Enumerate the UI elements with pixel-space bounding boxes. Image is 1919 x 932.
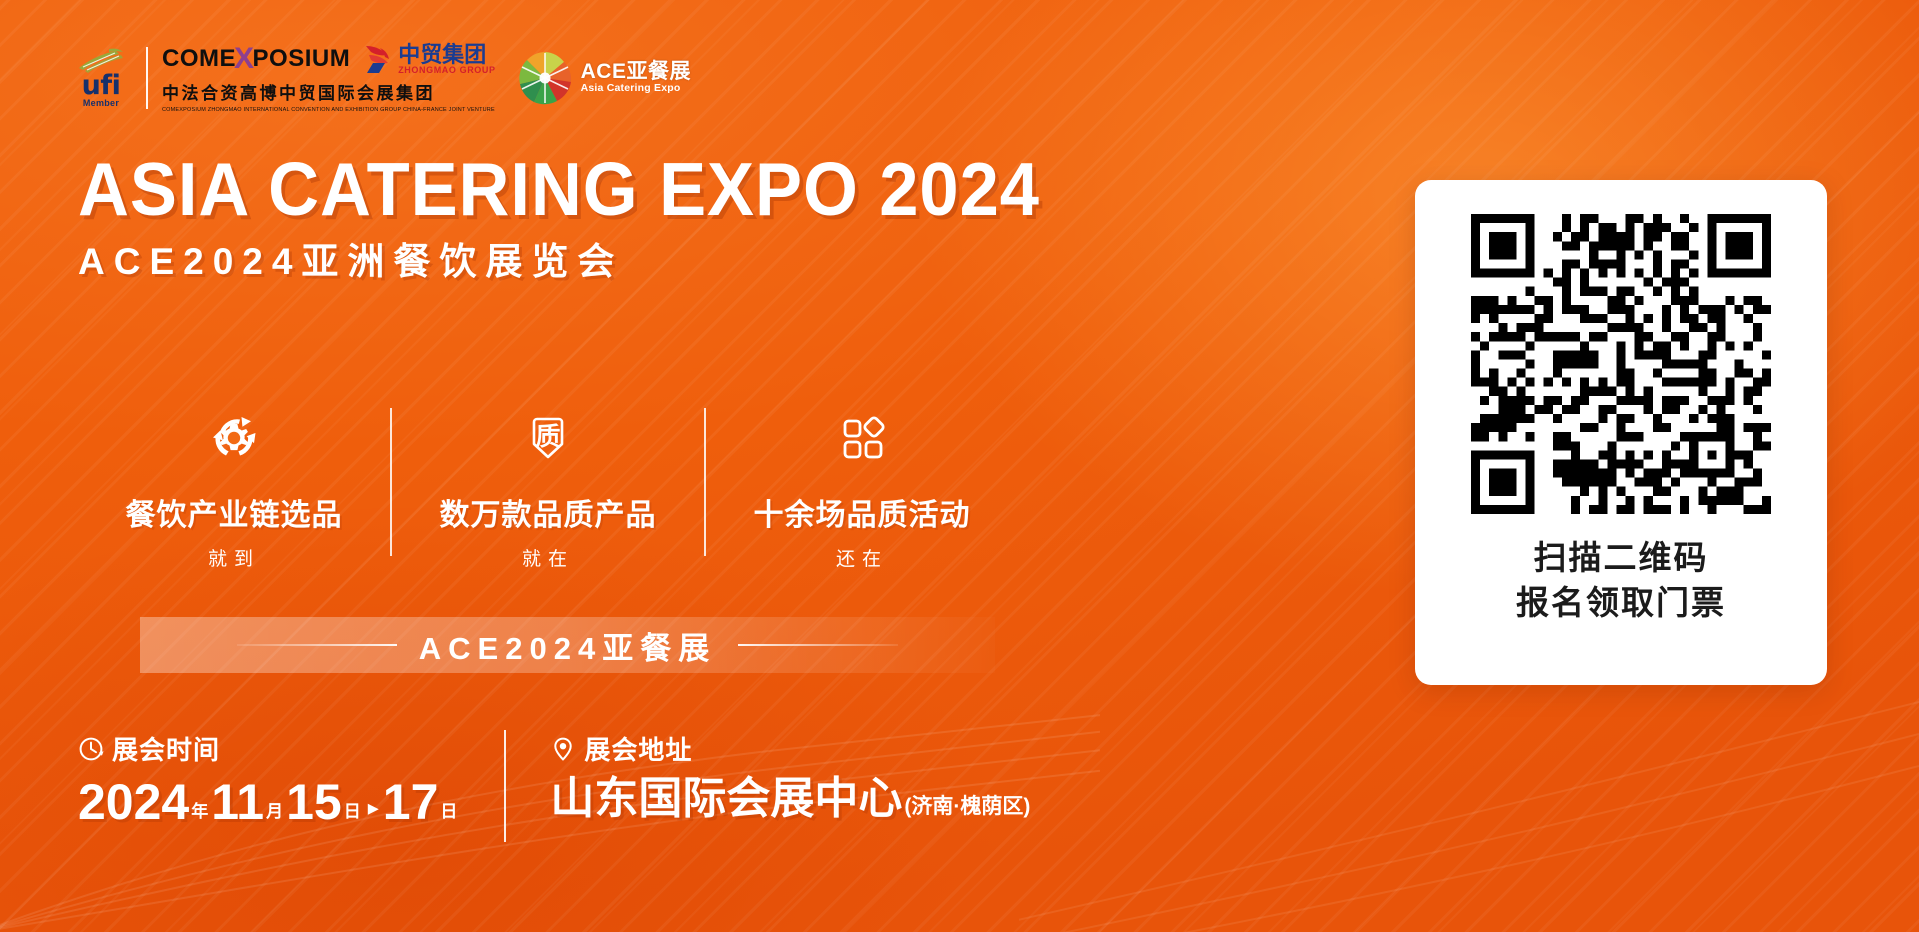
page-subtitle: ACE2024亚洲餐饮展览会 [78,243,1101,280]
qr-caption-line2: 报名领取门票 [1516,581,1726,626]
headline-block: ASIA CATERING EXPO 2024 ACE2024亚洲餐饮展览会 [78,152,1101,280]
ribbon-line-left [237,644,397,646]
date-range-arrow-icon: ▸ [368,795,379,821]
zhongmao-logo: 中贸集团 ZHONGMAO GROUP [360,42,495,76]
comexposium-zhongmao-logo: COME X POSIUM 中贸集团 ZHONGMAO GROUP [162,42,496,113]
feature-item-quality-products: 质 数万款品质产品 就在 [392,400,704,571]
comexposium-word-left: COME [162,45,236,73]
logo-divider [146,47,148,109]
feature-title: 数万款品质产品 [440,490,657,534]
feature-subtitle: 就到 [208,544,260,571]
feature-list: 餐饮产业链选品 就到 质 数万款品质产品 就在 [78,400,1018,571]
ribbon-band: ACE2024亚餐展 [140,617,995,673]
qr-caption-line1: 扫描二维码 [1516,536,1726,581]
info-divider [504,730,506,842]
shield-quality-icon: 质 [510,400,586,476]
gear-cycle-icon [196,400,272,476]
qr-caption: 扫描二维码 报名领取门票 [1516,536,1726,625]
date-month: 11 [211,777,264,827]
feature-subtitle: 还在 [836,544,888,571]
ribbon-text: ACE2024亚餐展 [419,623,716,668]
ufi-wordmark: ufi [82,73,121,99]
qr-code-icon[interactable] [1471,214,1771,514]
svg-text:质: 质 [535,422,560,451]
feature-title: 餐饮产业链选品 [126,490,343,534]
location-pin-icon [550,736,576,762]
zhongmao-en-name: ZHONGMAO GROUP [398,66,495,75]
promo-banner: ufi Member COME X POSIUM [0,0,1919,932]
comexposium-x-glyph: X [234,42,255,76]
venue-district: (济南·槐荫区) [904,790,1030,820]
date-day-end: 17 [383,777,439,827]
zhongmao-mark-icon [360,42,394,76]
date-year: 2024 [78,777,189,827]
ufi-wing-icon [75,47,127,73]
event-info: 展会时间 2024 年 11 月 15 日 ▸ 17 日 展会地址 [78,730,1030,842]
event-time-label: 展会时间 [112,730,220,767]
event-venue-value: 山东国际会展中心 (济南·槐荫区) [550,777,1030,821]
event-venue-label: 展会地址 [584,730,692,767]
event-time-block: 展会时间 2024 年 11 月 15 日 ▸ 17 日 [78,730,460,827]
clock-icon [78,736,104,762]
comexposium-word-right: POSIUM [253,45,351,73]
page-title: ASIA CATERING EXPO 2024 [78,152,1040,227]
date-year-unit: 年 [191,797,208,822]
event-date-value: 2024 年 11 月 15 日 ▸ 17 日 [78,777,460,827]
feature-item-supply-chain: 餐饮产业链选品 就到 [78,400,390,571]
ufi-logo: ufi Member [70,47,132,109]
date-day-start: 15 [286,777,342,827]
joint-venture-cn-line: 中法合资高博中贸国际会展集团 [162,79,496,104]
venue-name: 山东国际会展中心 [550,777,902,821]
joint-venture-en-line: COMEXPOSIUM ZHONGMAO INTERNATIONAL CONVE… [162,107,496,113]
qr-registration-panel[interactable]: 扫描二维码 报名领取门票 [1415,180,1827,685]
ace-expo-logo: ACE亚餐展 Asia Catering Expo [516,49,691,107]
event-venue-block: 展会地址 山东国际会展中心 (济南·槐荫区) [550,730,1030,821]
ace-en-name: Asia Catering Expo [581,83,691,94]
comexposium-wordmark: COME X POSIUM [162,42,350,76]
feature-subtitle: 就在 [522,544,574,571]
date-day-end-unit: 日 [440,797,457,822]
ufi-member-label: Member [83,98,119,108]
ace-pinwheel-icon [516,49,574,107]
feature-title: 十余场品质活动 [754,490,971,534]
sponsor-logo-bar: ufi Member COME X POSIUM [70,42,691,113]
swoosh-lines-right [1019,682,1919,932]
date-day-start-unit: 日 [344,797,361,822]
zhongmao-cn-name: 中贸集团 [398,44,495,66]
ribbon-line-right [738,644,898,646]
date-month-unit: 月 [266,797,283,822]
feature-item-events: 十余场品质活动 还在 [706,400,1018,571]
ace-cn-name: ACE亚餐展 [581,61,691,83]
squares-diamond-icon [824,400,900,476]
